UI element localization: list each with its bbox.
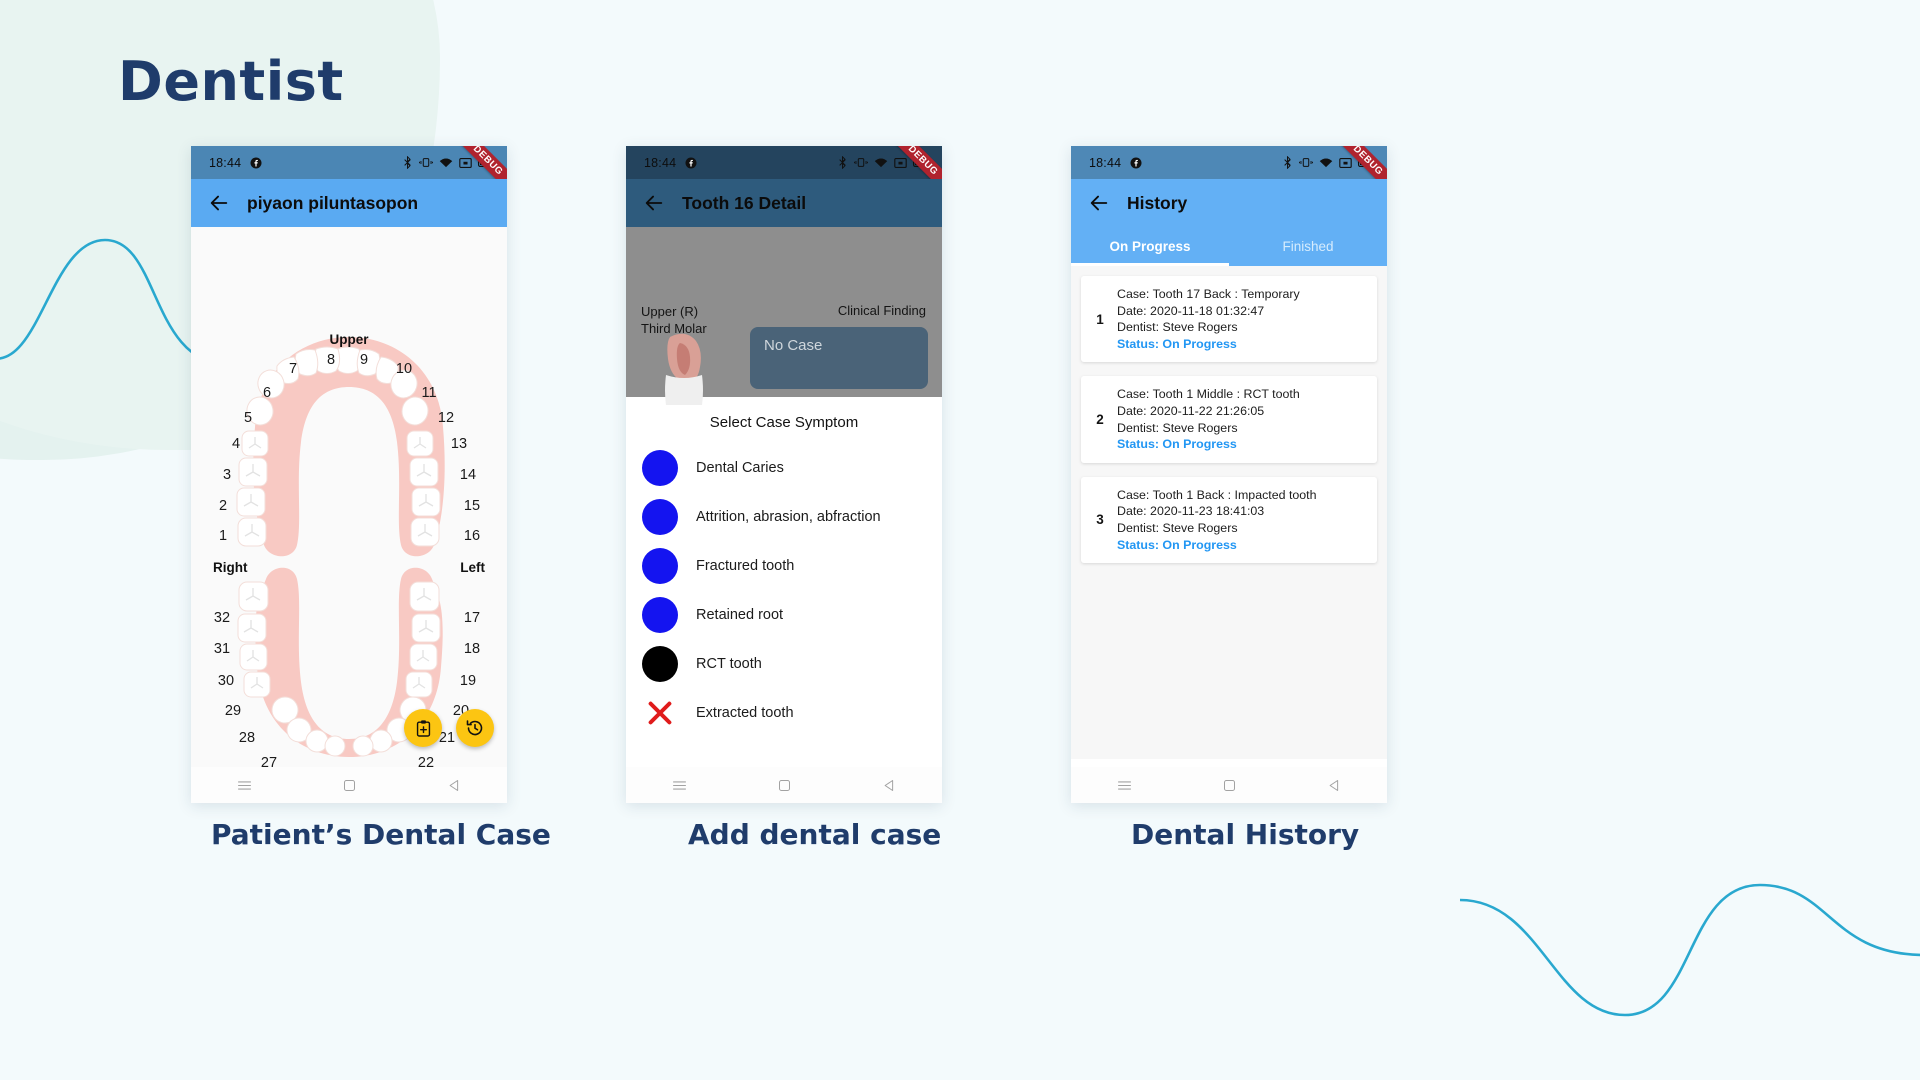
record-date: Date: 2020-11-23 18:41:03 bbox=[1117, 503, 1317, 520]
arrow-left-icon[interactable] bbox=[1079, 183, 1119, 223]
arrow-left-icon[interactable] bbox=[634, 183, 674, 223]
menu-icon[interactable] bbox=[671, 777, 688, 794]
record-date: Date: 2020-11-18 01:32:47 bbox=[1117, 303, 1300, 320]
symptom-list: Dental Caries Attrition, abrasion, abfra… bbox=[626, 443, 942, 737]
back-triangle-icon[interactable] bbox=[882, 778, 897, 793]
record-index: 1 bbox=[1089, 312, 1111, 327]
symptom-label: Attrition, abrasion, abfraction bbox=[696, 509, 881, 525]
page-title: Dentist bbox=[118, 50, 344, 113]
svg-text:32: 32 bbox=[214, 610, 230, 626]
marker-x-icon bbox=[642, 695, 678, 731]
android-nav-bar bbox=[626, 767, 942, 803]
svg-text:Left: Left bbox=[460, 560, 485, 575]
symptom-label: Dental Caries bbox=[696, 460, 784, 476]
record-date: Date: 2020-11-22 21:26:05 bbox=[1117, 403, 1300, 420]
clinical-finding-value[interactable]: No Case bbox=[750, 327, 928, 389]
caption-dental-history: Dental History bbox=[1131, 818, 1359, 851]
svg-text:2: 2 bbox=[219, 498, 227, 514]
history-record-row[interactable]: 1 Case: Tooth 17 Back : Temporary Date: … bbox=[1081, 276, 1377, 362]
record-status: Status: On Progress bbox=[1117, 436, 1300, 453]
caption-dental-case: Patient’s Dental Case bbox=[211, 818, 551, 851]
tab-finished[interactable]: Finished bbox=[1229, 227, 1387, 266]
status-bar: 18:44 bbox=[1071, 146, 1387, 179]
phone-mockup-dental-chart: 18:44 bbox=[191, 146, 507, 803]
android-nav-bar bbox=[1071, 767, 1387, 803]
history-record-row[interactable]: 3 Case: Tooth 1 Back : Impacted tooth Da… bbox=[1081, 477, 1377, 563]
svg-text:1: 1 bbox=[219, 528, 227, 544]
history-title: History bbox=[1127, 193, 1187, 214]
symptom-item[interactable]: Retained root bbox=[642, 590, 926, 639]
bluetooth-icon bbox=[1282, 156, 1293, 169]
marker-circle-icon bbox=[642, 499, 678, 535]
symptom-item[interactable]: RCT tooth bbox=[642, 639, 926, 688]
app-bar: History bbox=[1071, 179, 1387, 227]
home-square-icon[interactable] bbox=[1222, 778, 1237, 793]
svg-text:8: 8 bbox=[327, 352, 335, 368]
svg-text:5: 5 bbox=[244, 410, 252, 426]
svg-text:30: 30 bbox=[218, 673, 234, 689]
history-fab[interactable] bbox=[456, 709, 494, 747]
svg-text:13: 13 bbox=[451, 436, 467, 452]
symptom-label: Fractured tooth bbox=[696, 558, 794, 574]
caption-add-case: Add dental case bbox=[688, 818, 941, 851]
record-dentist: Dentist: Steve Rogers bbox=[1117, 319, 1300, 336]
status-time: 18:44 bbox=[209, 156, 241, 170]
dental-chart-body[interactable]: Upper Lower Right Left 89 710 611 512 41… bbox=[191, 227, 507, 803]
history-tabs: On Progress Finished bbox=[1071, 227, 1387, 266]
status-time: 18:44 bbox=[1089, 156, 1121, 170]
poster-canvas: Dentist 18:44 bbox=[0, 0, 1920, 1080]
vibrate-icon bbox=[1299, 156, 1313, 169]
section-title: Select Case Symptom bbox=[626, 414, 942, 431]
svg-text:14: 14 bbox=[460, 467, 476, 483]
tooth-hero-panel: Upper (R) Third Molar Clinical Finding N… bbox=[626, 227, 942, 397]
svg-text:6: 6 bbox=[263, 385, 271, 401]
svg-text:Upper: Upper bbox=[329, 332, 369, 347]
symptom-item[interactable]: Fractured tooth bbox=[642, 541, 926, 590]
tooth-illustration bbox=[650, 331, 720, 406]
app-bar: Tooth 16 Detail bbox=[626, 179, 942, 227]
phone-mockup-history: 18:44 bbox=[1071, 146, 1387, 803]
svg-text:18: 18 bbox=[464, 641, 480, 657]
record-status: Status: On Progress bbox=[1117, 537, 1317, 554]
history-clock-icon bbox=[465, 718, 485, 738]
bluetooth-icon bbox=[837, 156, 848, 169]
marker-circle-icon bbox=[642, 548, 678, 584]
status-time: 18:44 bbox=[644, 156, 676, 170]
record-dentist: Dentist: Steve Rogers bbox=[1117, 520, 1317, 537]
record-index: 2 bbox=[1089, 412, 1111, 427]
home-square-icon[interactable] bbox=[777, 778, 792, 793]
android-nav-bar bbox=[191, 767, 507, 803]
svg-text:19: 19 bbox=[460, 673, 476, 689]
clinical-finding-label: Clinical Finding bbox=[838, 303, 926, 318]
app-bar: piyaon piluntasopon bbox=[191, 179, 507, 227]
record-case: Case: Tooth 17 Back : Temporary bbox=[1117, 286, 1300, 303]
svg-text:15: 15 bbox=[464, 498, 480, 514]
tooth-detail-title: Tooth 16 Detail bbox=[682, 193, 806, 214]
floating-action-buttons bbox=[404, 709, 494, 747]
status-bar: 18:44 bbox=[191, 146, 507, 179]
svg-text:17: 17 bbox=[464, 610, 480, 626]
symptom-label: RCT tooth bbox=[696, 656, 762, 672]
symptom-label: Retained root bbox=[696, 607, 783, 623]
history-list: 1 Case: Tooth 17 Back : Temporary Date: … bbox=[1071, 266, 1387, 759]
svg-text:3: 3 bbox=[223, 467, 231, 483]
symptom-item[interactable]: Dental Caries bbox=[642, 443, 926, 492]
patient-name-title: piyaon piluntasopon bbox=[247, 193, 418, 214]
decorative-wave-right bbox=[1460, 780, 1920, 1080]
svg-text:12: 12 bbox=[438, 410, 454, 426]
back-triangle-icon[interactable] bbox=[1327, 778, 1342, 793]
wifi-icon bbox=[874, 157, 888, 169]
cast-icon bbox=[894, 157, 907, 169]
wifi-icon bbox=[439, 157, 453, 169]
cast-icon bbox=[1339, 157, 1352, 169]
menu-icon[interactable] bbox=[236, 777, 253, 794]
add-case-fab[interactable] bbox=[404, 709, 442, 747]
svg-text:10: 10 bbox=[396, 361, 412, 377]
clipboard-plus-icon bbox=[414, 719, 433, 738]
record-case: Case: Tooth 1 Middle : RCT tooth bbox=[1117, 386, 1300, 403]
symptom-item[interactable]: Extracted tooth bbox=[642, 688, 926, 737]
svg-text:29: 29 bbox=[225, 703, 241, 719]
svg-text:4: 4 bbox=[232, 436, 240, 452]
vibrate-icon bbox=[854, 156, 868, 169]
arrow-left-icon[interactable] bbox=[199, 183, 239, 223]
back-triangle-icon[interactable] bbox=[447, 778, 462, 793]
record-case: Case: Tooth 1 Back : Impacted tooth bbox=[1117, 487, 1317, 504]
record-status: Status: On Progress bbox=[1117, 336, 1300, 353]
facebook-icon bbox=[250, 157, 262, 169]
svg-text:31: 31 bbox=[214, 641, 230, 657]
menu-icon[interactable] bbox=[1116, 777, 1133, 794]
svg-text:Right: Right bbox=[213, 560, 248, 575]
status-bar: 18:44 bbox=[626, 146, 942, 179]
record-dentist: Dentist: Steve Rogers bbox=[1117, 420, 1300, 437]
vibrate-icon bbox=[419, 156, 433, 169]
marker-circle-icon bbox=[642, 450, 678, 486]
home-square-icon[interactable] bbox=[342, 778, 357, 793]
symptom-item[interactable]: Attrition, abrasion, abfraction bbox=[642, 492, 926, 541]
marker-circle-icon bbox=[642, 597, 678, 633]
bluetooth-icon bbox=[402, 156, 413, 169]
svg-text:16: 16 bbox=[464, 528, 480, 544]
facebook-icon bbox=[685, 157, 697, 169]
svg-text:28: 28 bbox=[239, 730, 255, 746]
wifi-icon bbox=[1319, 157, 1333, 169]
marker-circle-icon bbox=[642, 646, 678, 682]
cast-icon bbox=[459, 157, 472, 169]
svg-text:11: 11 bbox=[421, 385, 436, 401]
record-index: 3 bbox=[1089, 512, 1111, 527]
tab-on-progress[interactable]: On Progress bbox=[1071, 227, 1229, 266]
svg-text:7: 7 bbox=[289, 361, 297, 377]
phone-mockup-tooth-detail: 18:44 bbox=[626, 146, 942, 803]
facebook-icon bbox=[1130, 157, 1142, 169]
symptom-label: Extracted tooth bbox=[696, 705, 794, 721]
svg-text:9: 9 bbox=[360, 352, 368, 368]
history-record-row[interactable]: 2 Case: Tooth 1 Middle : RCT tooth Date:… bbox=[1081, 376, 1377, 462]
